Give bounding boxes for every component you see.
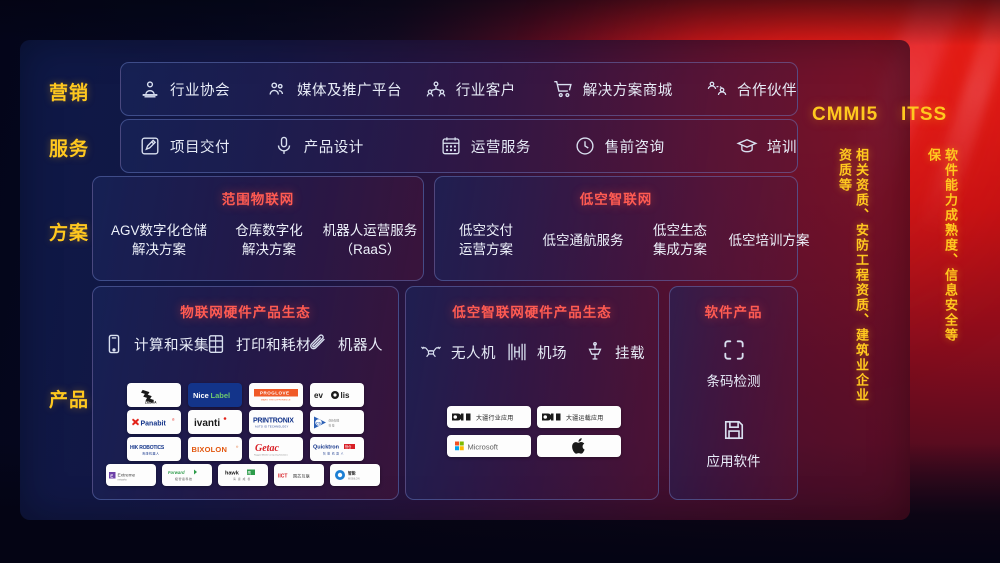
service-card: 项目交付 产品设计 运营服务 售前咨询 培训: [120, 119, 798, 173]
svg-text:海 康 威 视: 海 康 威 视: [233, 477, 251, 481]
product-category-robot[interactable]: 机器人: [307, 333, 383, 355]
product-design-mic-icon: [273, 135, 295, 157]
svg-text:ZEBRA: ZEBRA: [145, 400, 157, 404]
logo-tile[interactable]: hawk鹰海 康 威 视: [218, 464, 268, 486]
svg-text:HIK ROBOTICS: HIK ROBOTICS: [130, 445, 165, 451]
svg-text:海康机器人: 海康机器人: [142, 450, 160, 455]
logo-tile[interactable]: Panabit®: [127, 410, 181, 434]
marketing-item-media[interactable]: 媒体及推广平台: [266, 78, 425, 100]
svg-text:创新智能: 创新智能: [329, 418, 340, 422]
service-item-design[interactable]: 产品设计: [273, 135, 440, 157]
media-platform-icon: [266, 78, 288, 100]
service-item-label: 运营服务: [471, 136, 531, 157]
svg-text:E: E: [110, 473, 113, 478]
compute-collect-tablet-icon: [103, 333, 125, 355]
svg-text:lis: lis: [341, 391, 350, 400]
svg-text:®: ®: [236, 445, 239, 449]
drone-icon: [420, 341, 442, 363]
svg-text:Extreme: Extreme: [118, 472, 136, 478]
svg-text:Label: Label: [211, 391, 231, 400]
marketing-item-label: 行业客户: [456, 79, 516, 100]
solution-mall-cart-icon: [552, 78, 574, 100]
svg-text:®: ®: [172, 418, 175, 422]
software-item-label: 应用软件: [707, 454, 761, 469]
cert-title-cmmi5: CMMI5: [812, 104, 878, 126]
svg-text:networks: networks: [118, 478, 128, 481]
svg-text:AUTO ID TECHNOLOGY: AUTO ID TECHNOLOGY: [255, 425, 289, 428]
svg-text:ev: ev: [314, 391, 323, 400]
logo-tile[interactable]: CS创新智能科 技: [310, 410, 364, 434]
solution-item[interactable]: 低空生态 集成方案: [637, 221, 723, 259]
product-category-drone[interactable]: 无人机: [420, 341, 496, 363]
svg-text:PROGLOVE: PROGLOVE: [260, 391, 290, 396]
logo-tile[interactable]: GetacRugged Mobile Computing Solutions: [249, 437, 303, 461]
operation-service-calendar-icon: [440, 135, 462, 157]
airport-icon: [506, 341, 528, 363]
product-group-title: 低空智联网硬件产品生态: [406, 301, 658, 321]
marketing-item-label: 行业协会: [170, 79, 230, 100]
product-group-iot-hardware: 物联网硬件产品生态 计算和采集 打印和耗材 机器人 ZEBRA NiceLabe…: [92, 286, 399, 500]
cert-vertical-text-itss: 软件能力成熟度、信息安全等保: [925, 148, 959, 348]
svg-text:Getac: Getac: [255, 443, 279, 454]
solution-group-iot: 范围物联网 AGV数字化仓储 解决方案 仓库数字化 解决方案 机器人运营服务 （…: [92, 176, 424, 281]
marketing-item-customer[interactable]: 行业客户: [425, 78, 552, 100]
service-item-label: 项目交付: [170, 136, 230, 157]
product-category-label: 挂载: [615, 342, 645, 363]
payload-mount-icon: [584, 341, 606, 363]
svg-text:极智嘉科技: 极智嘉科技: [175, 476, 193, 481]
svg-text:MARK THE DIFFERENCE: MARK THE DIFFERENCE: [261, 399, 291, 402]
solution-item[interactable]: AGV数字化仓储 解决方案: [99, 221, 219, 259]
logo-tile[interactable]: PROGLOVEMARK THE DIFFERENCE: [249, 383, 303, 407]
logo-tile[interactable]: BIXOLON®: [188, 437, 242, 461]
svg-text:MOBILON: MOBILON: [348, 478, 360, 481]
partner-handshake-icon: [706, 78, 728, 100]
svg-text:Quicktron: Quicktron: [313, 444, 340, 450]
svg-text:国芯互联: 国芯互联: [293, 472, 310, 478]
svg-text:大疆行业应用: 大疆行业应用: [476, 414, 514, 422]
product-group-title: 物联网硬件产品生态: [93, 301, 398, 321]
floppy-disk-icon: [721, 417, 747, 443]
association-icon: [139, 78, 161, 100]
logo-tile[interactable]: evlis: [310, 383, 364, 407]
svg-text:CS: CS: [316, 421, 322, 425]
solution-group-lowaltitude: 低空智联网 低空交付 运营方案 低空通航服务 低空生态 集成方案 低空培训方案: [434, 176, 798, 281]
product-group-lowaltitude-hardware: 低空智联网硬件产品生态 无人机 机场 挂载 大疆行业应用 大疆运载应用 Micr…: [405, 286, 659, 500]
product-category-print[interactable]: 打印和耗材: [205, 333, 311, 355]
service-item-delivery[interactable]: 项目交付: [139, 135, 273, 157]
svg-text:智能: 智能: [347, 471, 356, 476]
marketing-item-label: 合作伙伴: [737, 79, 797, 100]
svg-text:Microsoft: Microsoft: [468, 443, 499, 452]
logo-tile[interactable]: [537, 435, 621, 457]
logo-tile[interactable]: ivanti: [188, 410, 242, 434]
svg-text:快仓: 快仓: [345, 444, 352, 449]
logo-tile[interactable]: NiceLabel: [188, 383, 242, 407]
solution-group-title: 低空智联网: [435, 188, 797, 208]
service-item-label: 产品设计: [304, 136, 364, 157]
svg-text:PRINTRONIX: PRINTRONIX: [253, 417, 294, 424]
logo-tile[interactable]: PRINTRONIXAUTO ID TECHNOLOGY: [249, 410, 303, 434]
solution-item[interactable]: 低空交付 运营方案: [443, 221, 529, 259]
solution-item[interactable]: 机器人运营服务 （RaaS）: [315, 221, 425, 259]
product-category-label: 机场: [537, 342, 567, 363]
svg-text:科 技: 科 技: [329, 423, 335, 427]
service-item-operation[interactable]: 运营服务: [440, 135, 574, 157]
logo-tile[interactable]: IICT国芯互联: [274, 464, 324, 486]
solution-item[interactable]: 低空培训方案: [719, 231, 819, 250]
product-category-label: 打印和耗材: [236, 334, 311, 355]
solution-group-title: 范围物联网: [93, 188, 423, 208]
product-category-label: 机器人: [338, 334, 383, 355]
logo-tile[interactable]: EExtremenetworks: [106, 464, 156, 486]
marketing-card: 行业协会 媒体及推广平台 行业客户 解决方案商城 合作伙伴: [120, 62, 798, 116]
logo-tile[interactable]: ZEBRA: [127, 383, 181, 407]
svg-text:hawk: hawk: [225, 471, 240, 477]
service-item-training[interactable]: 培训: [736, 135, 797, 157]
svg-text:Nice: Nice: [193, 391, 209, 400]
cert-vertical-text-cmmi5: 相关资质、安防工程资质、建筑业企业资质等: [836, 148, 870, 403]
product-category-label: 计算和采集: [134, 334, 209, 355]
presales-clock-icon: [574, 135, 596, 157]
product-category-airport[interactable]: 机场: [506, 341, 567, 363]
marketing-item-mall[interactable]: 解决方案商城: [552, 78, 706, 100]
robot-clip-icon: [307, 333, 329, 355]
marketing-item-partner[interactable]: 合作伙伴: [706, 78, 797, 100]
logo-tile[interactable]: 大疆运载应用: [537, 406, 621, 428]
product-group-software: 软件产品 条码检测 应用软件: [669, 286, 798, 500]
training-cap-icon: [736, 135, 758, 157]
print-consumable-icon: [205, 333, 227, 355]
logo-tile[interactable]: Quicktron快仓智 能 机 器 人: [310, 437, 364, 461]
marketing-item-label: 媒体及推广平台: [297, 79, 402, 100]
barcode-scan-frame-icon: [721, 337, 747, 363]
cert-title-itss: ITSS: [901, 104, 947, 126]
svg-text:鹰: 鹰: [248, 470, 252, 475]
product-category-compute[interactable]: 计算和采集: [103, 333, 209, 355]
row-label-marketing: 营销: [36, 78, 102, 105]
slide-canvas: 营销 服务 方案 产品 行业协会 媒体及推广平台 行业客户 解决方案商城: [0, 0, 1000, 563]
project-delivery-pen-icon: [139, 135, 161, 157]
logo-tile[interactable]: 智能MOBILON: [330, 464, 380, 486]
marketing-item-label: 解决方案商城: [583, 79, 673, 100]
industry-customer-icon: [425, 78, 447, 100]
svg-text:大疆运载应用: 大疆运载应用: [566, 414, 604, 422]
software-item-app[interactable]: 应用软件: [670, 417, 797, 470]
logo-tile[interactable]: 大疆行业应用: [447, 406, 531, 428]
logo-tile[interactable]: Forward极智嘉科技: [162, 464, 212, 486]
product-category-label: 无人机: [451, 342, 496, 363]
svg-text:Panabit: Panabit: [141, 420, 167, 427]
software-item-barcode[interactable]: 条码检测: [670, 337, 797, 390]
marketing-item-association[interactable]: 行业协会: [139, 78, 266, 100]
row-label-service: 服务: [36, 134, 102, 161]
software-item-label: 条码检测: [707, 374, 761, 389]
service-item-presales[interactable]: 售前咨询: [574, 135, 736, 157]
service-item-label: 培训: [767, 136, 797, 157]
product-category-payload[interactable]: 挂载: [584, 341, 645, 363]
svg-text:IICT: IICT: [278, 473, 287, 479]
service-item-label: 售前咨询: [605, 136, 665, 157]
logo-tile[interactable]: HIK ROBOTICS海康机器人: [127, 437, 181, 461]
solution-item[interactable]: 仓库数字化 解决方案: [219, 221, 319, 259]
logo-tile[interactable]: Microsoft: [447, 435, 531, 457]
svg-text:智 能 机 器 人: 智 能 机 器 人: [323, 451, 344, 455]
solution-item[interactable]: 低空通航服务: [529, 231, 637, 250]
svg-text:ivanti: ivanti: [194, 418, 220, 429]
svg-text:Forward: Forward: [168, 470, 185, 475]
product-group-title: 软件产品: [670, 301, 797, 321]
svg-text:BIXOLON: BIXOLON: [192, 445, 228, 454]
